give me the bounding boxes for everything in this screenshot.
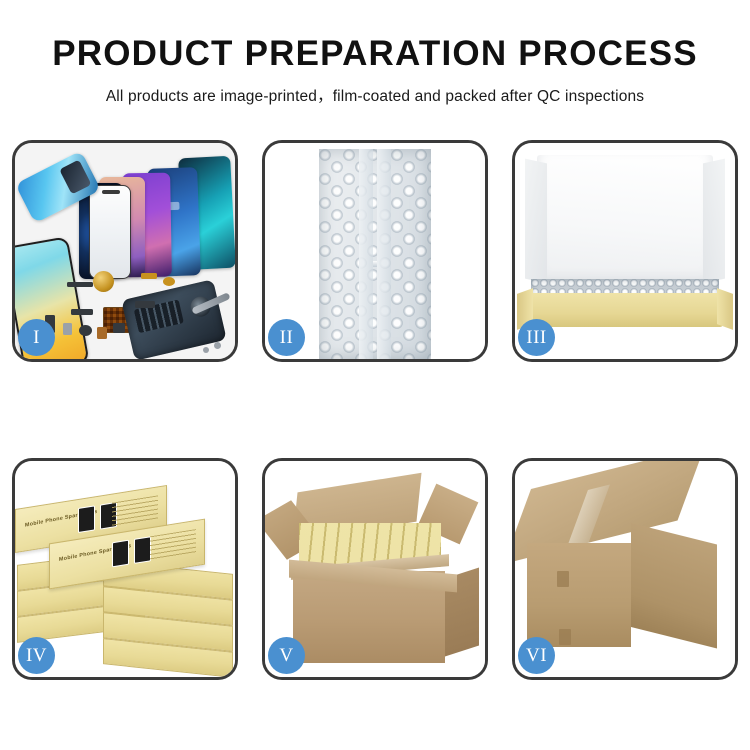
step-badge-3: III	[518, 319, 555, 356]
screw-component-icon	[203, 347, 209, 353]
connector-component-icon	[141, 273, 157, 279]
box-product-image-icon	[134, 536, 151, 564]
box-spec-lines	[150, 529, 196, 562]
sim-tray-component-icon	[63, 323, 72, 335]
pouch-seal-right	[377, 149, 391, 359]
box-product-image-icon	[78, 505, 95, 533]
step-badge-6: VI	[518, 637, 555, 674]
page-title: PRODUCT PREPARATION PROCESS	[0, 36, 750, 73]
process-step-grid: I II III	[12, 140, 738, 680]
step-badge-4: IV	[18, 637, 55, 674]
tape-patch-icon	[557, 571, 569, 587]
sealed-carton-front-icon	[527, 543, 631, 647]
step-badge-5: V	[268, 637, 305, 674]
phone-chassis-icon	[121, 279, 227, 359]
speaker-component-icon	[93, 271, 114, 292]
earpiece-component-icon	[113, 323, 125, 333]
process-step-panel-5: V	[262, 458, 488, 680]
vibrator-component-icon	[79, 325, 92, 336]
box-spec-lines	[112, 495, 158, 528]
header: PRODUCT PREPARATION PROCESS All products…	[0, 36, 750, 106]
process-step-panel-2: II	[262, 140, 488, 362]
mailer-box-front-panel-icon	[527, 293, 723, 327]
flex-cable-component-icon	[67, 282, 93, 287]
button-flex-component-icon	[71, 309, 93, 315]
camera-ring-component-icon	[163, 277, 175, 286]
mailer-box-lid-icon	[537, 155, 713, 287]
screw-component-icon	[214, 342, 221, 349]
screen-protector-glass-icon	[89, 185, 131, 279]
process-step-panel-6: VI	[512, 458, 738, 680]
sealed-carton-right-icon	[631, 523, 717, 648]
process-step-panel-4: Mobile Phone Spare Parts Mobile Phone Sp…	[12, 458, 238, 680]
product-preparation-infographic: PRODUCT PREPARATION PROCESS All products…	[0, 0, 750, 750]
step-badge-1: I	[18, 319, 55, 356]
page-subtitle: All products are image-printed，film-coat…	[0, 84, 750, 106]
process-step-panel-1: I	[12, 140, 238, 362]
box-product-image-icon	[112, 540, 129, 568]
tape-patch-icon	[559, 629, 571, 645]
bubble-wrap-pouch-icon	[319, 149, 431, 359]
pouch-fold-line	[373, 261, 377, 267]
step-badge-2: II	[268, 319, 305, 356]
ribbon-cable-component-icon	[135, 301, 155, 308]
battery-connector-icon	[97, 327, 107, 339]
pouch-seal-left	[359, 149, 373, 359]
process-step-panel-3: III	[512, 140, 738, 362]
